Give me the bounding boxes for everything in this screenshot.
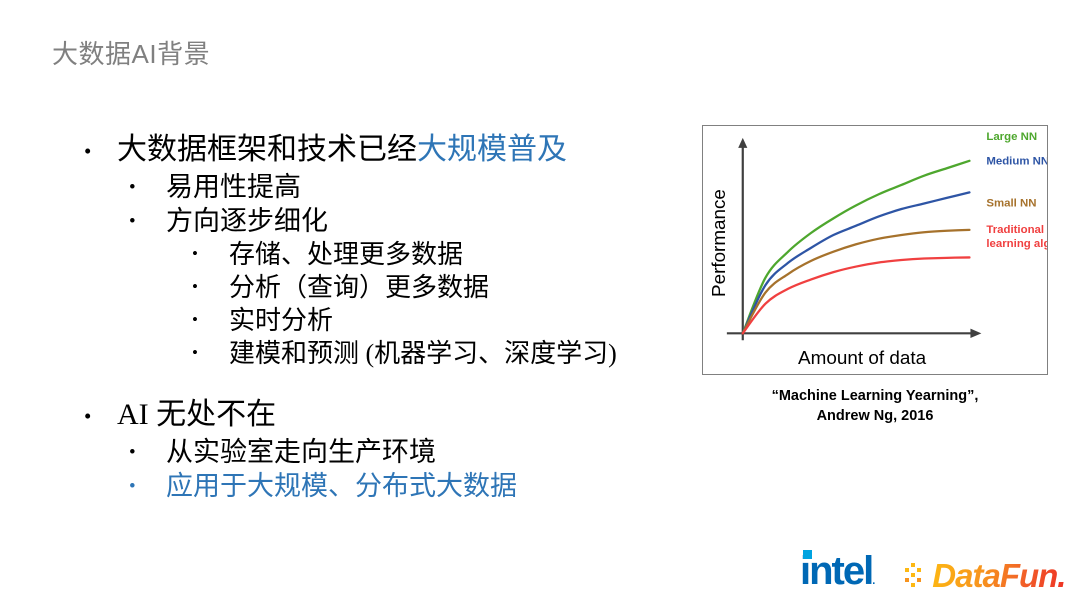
series-label-medium-nn: Medium NN <box>986 156 1047 168</box>
bullet-glyph-icon: • <box>129 170 166 197</box>
list-item-level3: • 分析（查询）更多数据 <box>192 271 684 304</box>
list-item-level1: • AI 无处不在 <box>84 397 684 433</box>
bullet-glyph-icon: • <box>129 469 166 496</box>
list-item-level3: • 建模和预测 (机器学习、深度学习) <box>192 337 684 370</box>
performance-vs-data-chart: Performance Amount of data Large NN Medi… <box>702 125 1048 375</box>
list-item-level2: • 从实验室走向生产环境 <box>129 435 684 469</box>
chart-caption-line1: “Machine Learning Yearning”, <box>702 386 1048 406</box>
list-item-text: 易用性提高 <box>166 170 301 204</box>
list-item-level3: • 存储、处理更多数据 <box>192 238 684 271</box>
page-title: 大数据AI背景 <box>52 34 210 71</box>
series-line-large-nn <box>743 161 970 334</box>
list-item-text: 应用于大规模、分布式大数据 <box>166 469 517 503</box>
chart-caption: “Machine Learning Yearning”, Andrew Ng, … <box>702 386 1048 426</box>
x-axis-label: Amount of data <box>798 347 927 368</box>
list-item-text: 从实验室走向生产环境 <box>166 435 436 469</box>
series-line-small-nn <box>743 230 970 333</box>
list-item-text: 建模和预测 (机器学习、深度学习) <box>229 337 617 370</box>
bullet-glyph-icon: • <box>192 238 229 262</box>
list-item-text: 分析（查询）更多数据 <box>229 271 489 304</box>
footer-logo-group: intel. DataFun. <box>800 552 1062 600</box>
bullet-glyph-icon: • <box>84 397 117 427</box>
list-item-text: 方向逐步细化 <box>166 204 328 238</box>
series-label-large-nn: Large NN <box>986 131 1037 143</box>
list-item-level2-highlighted: • 应用于大规模、分布式大数据 <box>129 469 684 503</box>
list-item-text: 大数据框架和技术已经大规模普及 <box>117 132 567 168</box>
bullet-glyph-icon: • <box>192 337 229 361</box>
y-axis-label: Performance <box>708 189 729 297</box>
list-item-text: AI 无处不在 <box>117 397 276 433</box>
list-item-level2: • 易用性提高 <box>129 170 684 204</box>
list-item-level3: • 实时分析 <box>192 304 684 337</box>
bullet-glyph-icon: • <box>192 271 229 295</box>
slide-root: 大数据AI背景 • 大数据框架和技术已经大规模普及 • 易用性提高 • 方向逐步… <box>0 0 1080 608</box>
chart-svg: Performance Amount of data Large NN Medi… <box>703 126 1047 374</box>
datafun-logo: DataFun. <box>904 558 1065 594</box>
list-item-level1: • 大数据框架和技术已经大规模普及 <box>84 132 684 168</box>
list-item-level2: • 方向逐步细化 <box>129 204 684 238</box>
intel-registered-icon: . <box>872 575 875 587</box>
bullet-glyph-icon: • <box>129 204 166 231</box>
intel-logo: intel. <box>800 551 875 601</box>
datafun-dots-icon <box>904 561 930 591</box>
chart-caption-line2: Andrew Ng, 2016 <box>702 406 1048 426</box>
bullet-glyph-icon: • <box>84 132 117 162</box>
datafun-logo-text: DataFun. <box>932 558 1065 594</box>
bullet-glyph-icon: • <box>192 304 229 328</box>
series-label-traditional-line2: learning algo <box>986 238 1047 250</box>
series-line-traditional <box>743 257 970 333</box>
list-item-text-plain: 大数据框架和技术已经 <box>117 133 417 166</box>
list-item-text-accent: 大规模普及 <box>417 133 567 166</box>
series-label-traditional-line1: Traditional <box>986 224 1044 236</box>
y-axis-arrow-icon <box>738 138 747 148</box>
list-item-text: 存储、处理更多数据 <box>229 238 463 271</box>
x-axis-arrow-icon <box>970 329 981 338</box>
bullet-glyph-icon: • <box>129 435 166 462</box>
intel-dot-icon <box>803 550 812 559</box>
section-spacer <box>84 370 684 397</box>
list-item-text: 实时分析 <box>229 304 333 337</box>
series-label-small-nn: Small NN <box>986 197 1036 209</box>
content-bullet-list: • 大数据框架和技术已经大规模普及 • 易用性提高 • 方向逐步细化 • 存储、… <box>84 132 684 503</box>
